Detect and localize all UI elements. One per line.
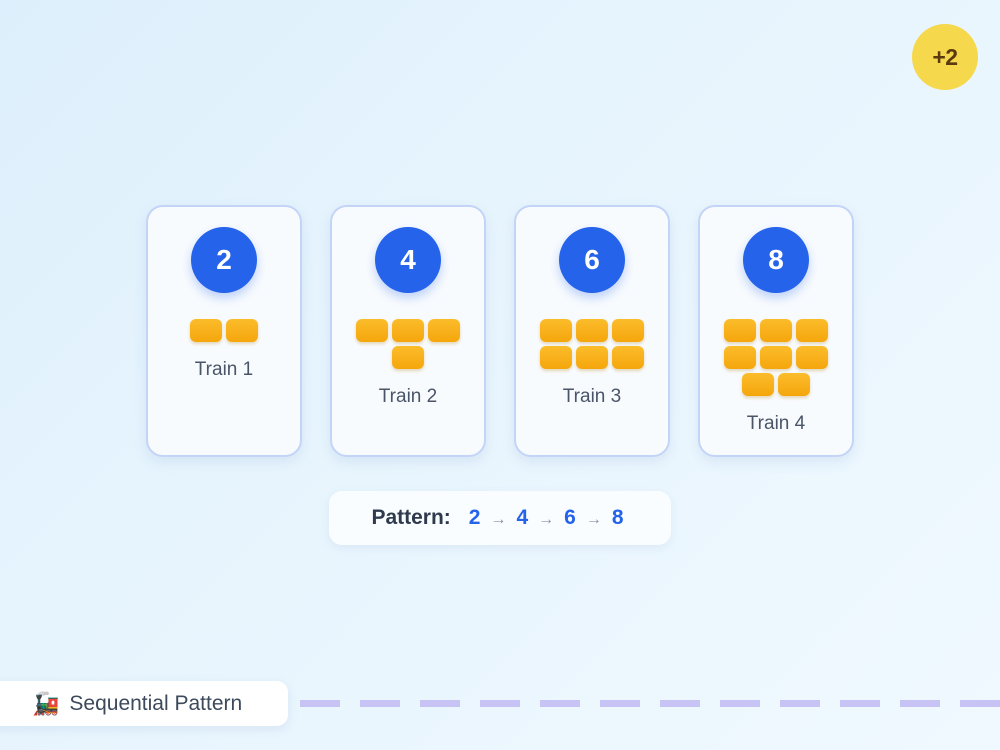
pattern-arrow-icon: → xyxy=(538,511,554,528)
block xyxy=(226,319,258,342)
block xyxy=(760,319,792,342)
block xyxy=(540,319,572,342)
train-card-label: Train 2 xyxy=(379,386,437,408)
train-card[interactable]: 2Train 1 xyxy=(146,205,302,457)
train-card-label: Train 4 xyxy=(747,413,805,435)
block-group xyxy=(536,319,648,369)
block-group xyxy=(352,319,464,369)
train-card-label: Train 1 xyxy=(195,359,253,381)
train-cards-row: 2Train 14Train 26Train 38Train 4 xyxy=(146,205,854,457)
pattern-arrow-icon: → xyxy=(586,511,602,528)
pattern-number: 6 xyxy=(564,506,576,529)
train-emoji-icon: 🚂 xyxy=(32,693,59,715)
block xyxy=(778,373,810,396)
train-card[interactable]: 8Train 4 xyxy=(698,205,854,457)
caption-label: Sequential Pattern xyxy=(69,692,242,716)
train-card[interactable]: 4Train 2 xyxy=(330,205,486,457)
block xyxy=(724,319,756,342)
block xyxy=(796,346,828,369)
train-card-label: Train 3 xyxy=(563,386,621,408)
block xyxy=(540,346,572,369)
count-circle: 6 xyxy=(559,227,625,293)
caption-pill: 🚂 Sequential Pattern xyxy=(0,681,288,726)
block xyxy=(742,373,774,396)
pattern-sequence: 2→4→6→8 xyxy=(464,506,629,530)
block xyxy=(190,319,222,342)
pattern-number: 8 xyxy=(612,506,624,529)
train-card[interactable]: 6Train 3 xyxy=(514,205,670,457)
block-group xyxy=(168,319,280,342)
block xyxy=(724,346,756,369)
pattern-summary: Pattern: 2→4→6→8 xyxy=(329,491,671,545)
pattern-number: 4 xyxy=(516,506,528,529)
score-badge: +2 xyxy=(912,24,978,90)
pattern-number: 2 xyxy=(469,506,481,529)
block xyxy=(612,346,644,369)
count-circle: 4 xyxy=(375,227,441,293)
block xyxy=(612,319,644,342)
pattern-arrow-icon: → xyxy=(490,511,506,528)
block xyxy=(576,319,608,342)
block xyxy=(392,346,424,369)
block xyxy=(356,319,388,342)
block-group xyxy=(720,319,832,396)
block xyxy=(392,319,424,342)
block xyxy=(428,319,460,342)
block xyxy=(760,346,792,369)
count-circle: 2 xyxy=(191,227,257,293)
count-circle: 8 xyxy=(743,227,809,293)
block xyxy=(576,346,608,369)
block xyxy=(796,319,828,342)
pattern-title: Pattern: xyxy=(371,506,450,530)
